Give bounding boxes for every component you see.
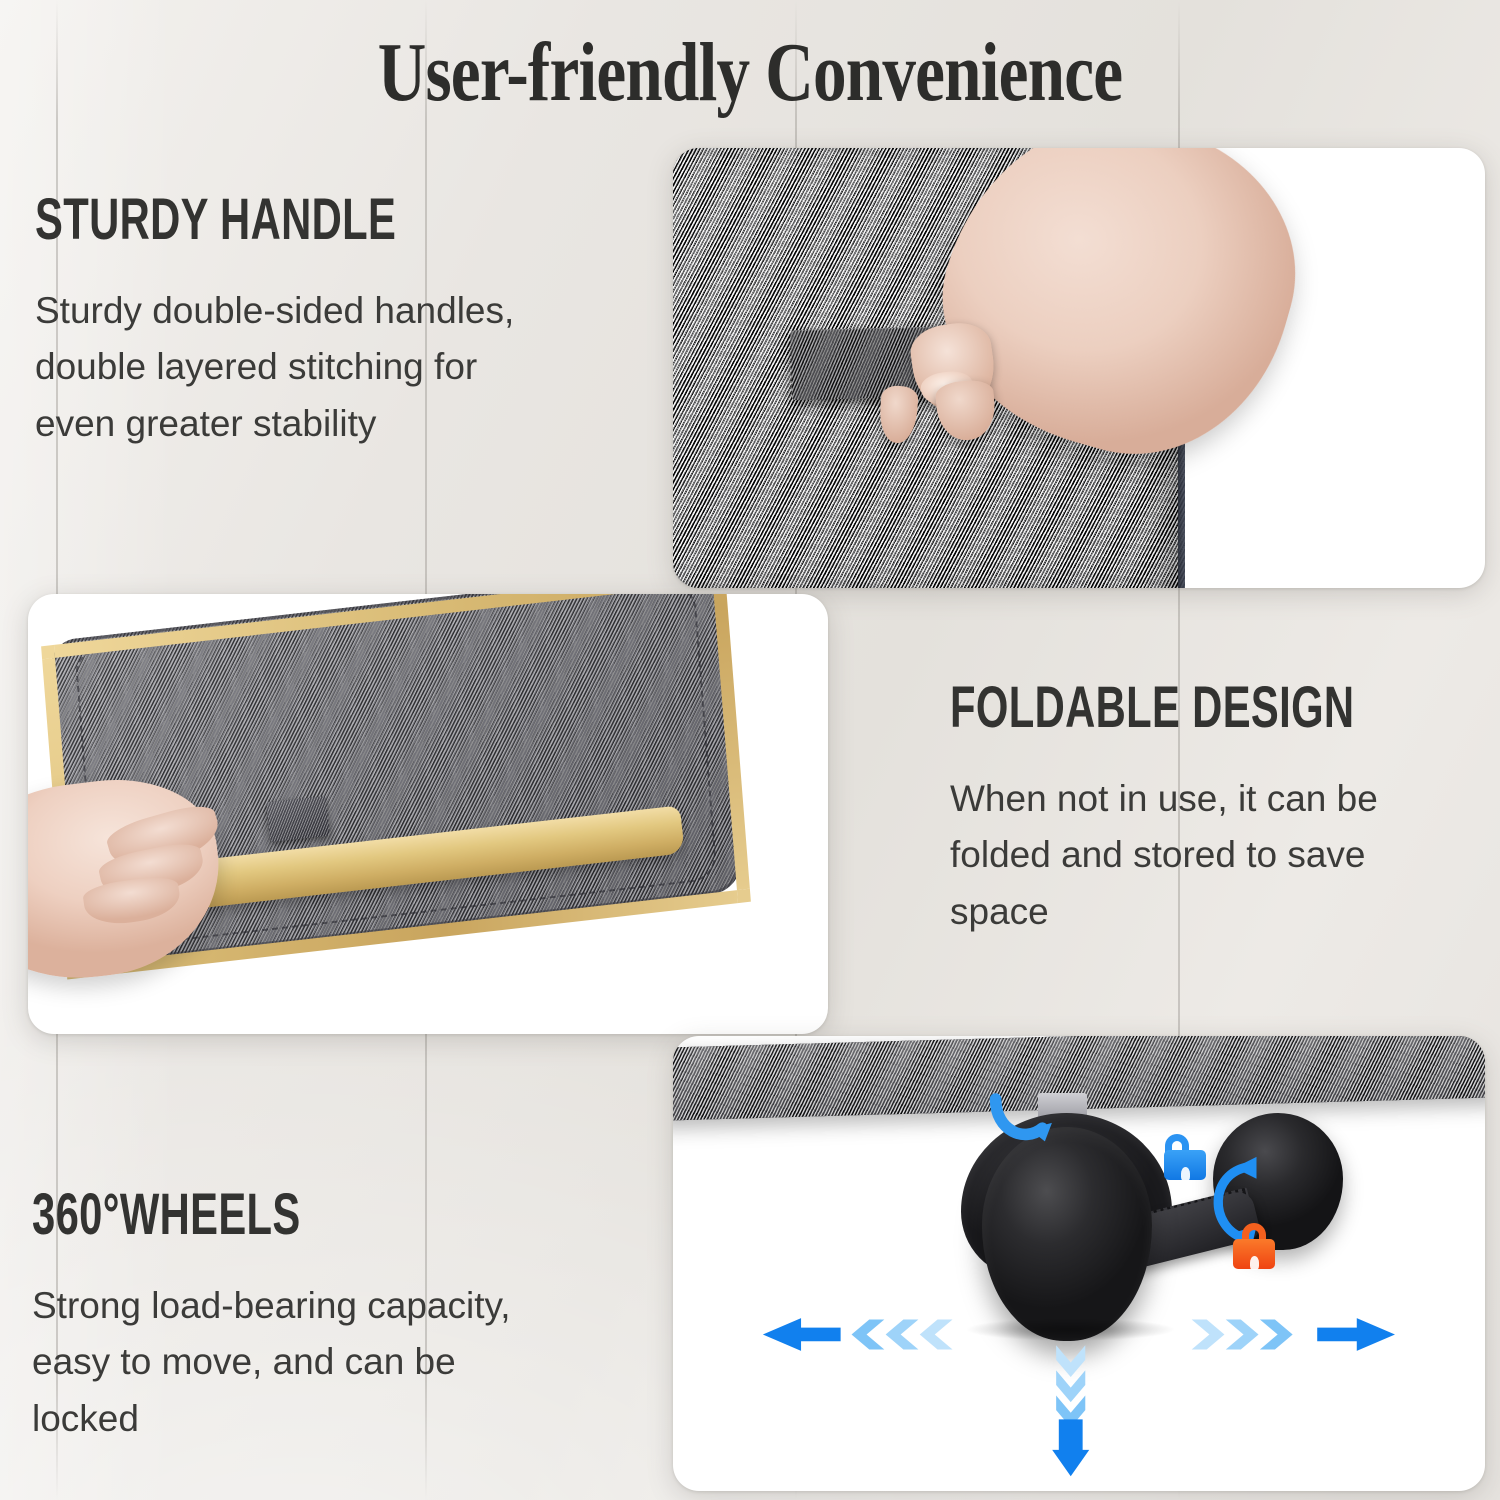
feature-photo-sturdy-handle bbox=[673, 148, 1485, 588]
arrow-left-icon bbox=[738, 1314, 998, 1355]
feature-photo-360-wheels bbox=[673, 1036, 1485, 1491]
caster-wheel-front bbox=[982, 1127, 1153, 1341]
padlock-body bbox=[1164, 1150, 1206, 1180]
feature-body-foldable-design: When not in use, it can be folded and st… bbox=[950, 771, 1495, 940]
padlock-keyhole bbox=[1250, 1256, 1259, 1270]
feature-heading-sturdy-handle: STURDY HANDLE bbox=[35, 190, 396, 249]
product-feature-poster: User-friendly Convenience STURDY HANDLE … bbox=[0, 0, 1500, 1500]
feature-photo-foldable-design bbox=[28, 594, 828, 1034]
folded-tray-graphic bbox=[28, 594, 828, 1034]
arrow-right-icon bbox=[1160, 1314, 1420, 1355]
feature-heading-foldable-design: FOLDABLE DESIGN bbox=[950, 678, 1354, 737]
feature-block-foldable-design: FOLDABLE DESIGN When not in use, it can … bbox=[950, 678, 1500, 940]
padlock-keyhole bbox=[1181, 1167, 1190, 1181]
closed-padlock-icon bbox=[1233, 1223, 1275, 1269]
feature-body-360-wheels: Strong load-bearing capacity, easy to mo… bbox=[32, 1278, 511, 1447]
poster-title: User-friendly Convenience bbox=[150, 24, 1350, 121]
arrow-down-icon bbox=[1022, 1336, 1119, 1482]
feature-body-sturdy-handle: Sturdy double-sided handles, double laye… bbox=[35, 283, 537, 452]
open-padlock-icon bbox=[1164, 1134, 1206, 1180]
feature-block-sturdy-handle: STURDY HANDLE Sturdy double-sided handle… bbox=[35, 190, 537, 452]
padlock-body bbox=[1233, 1239, 1275, 1269]
feature-block-360-wheels: 360°WHEELS Strong load-bearing capacity,… bbox=[32, 1185, 511, 1447]
tray-fabric-tab bbox=[266, 796, 330, 842]
feature-heading-360-wheels: 360°WHEELS bbox=[32, 1185, 377, 1244]
swivel-arrow-icon bbox=[965, 1086, 1079, 1159]
